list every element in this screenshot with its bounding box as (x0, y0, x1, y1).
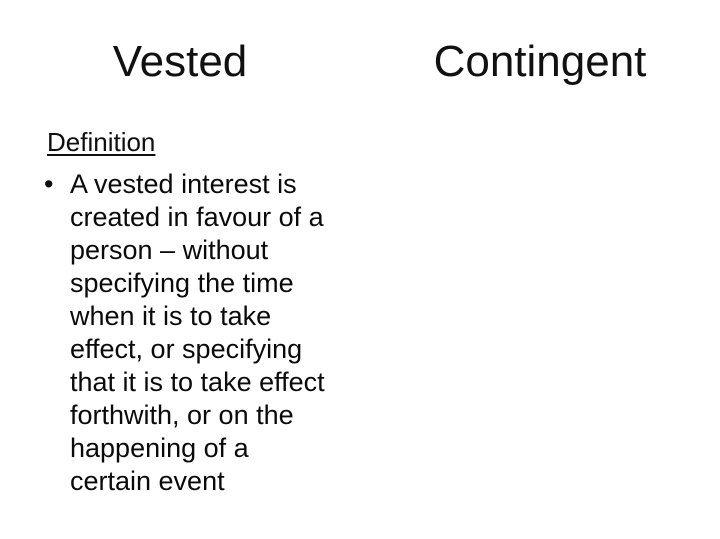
column-vested: Vested Definition • A vested interest is… (0, 0, 360, 539)
column-title-vested: Vested (0, 36, 376, 88)
bullet-list-vested: • A vested interest is created in favour… (40, 168, 345, 498)
comparison-slide: Vested Definition • A vested interest is… (0, 0, 720, 539)
column-title-contingent: Contingent (360, 36, 720, 88)
list-item: • A vested interest is created in favour… (40, 168, 345, 498)
bullet-point-icon: • (44, 168, 53, 201)
bullet-text-vested: A vested interest is created in favour o… (70, 168, 345, 498)
definition-heading-vested: Definition (47, 127, 155, 157)
column-contingent: Contingent Definition • A contingent int… (360, 0, 720, 539)
